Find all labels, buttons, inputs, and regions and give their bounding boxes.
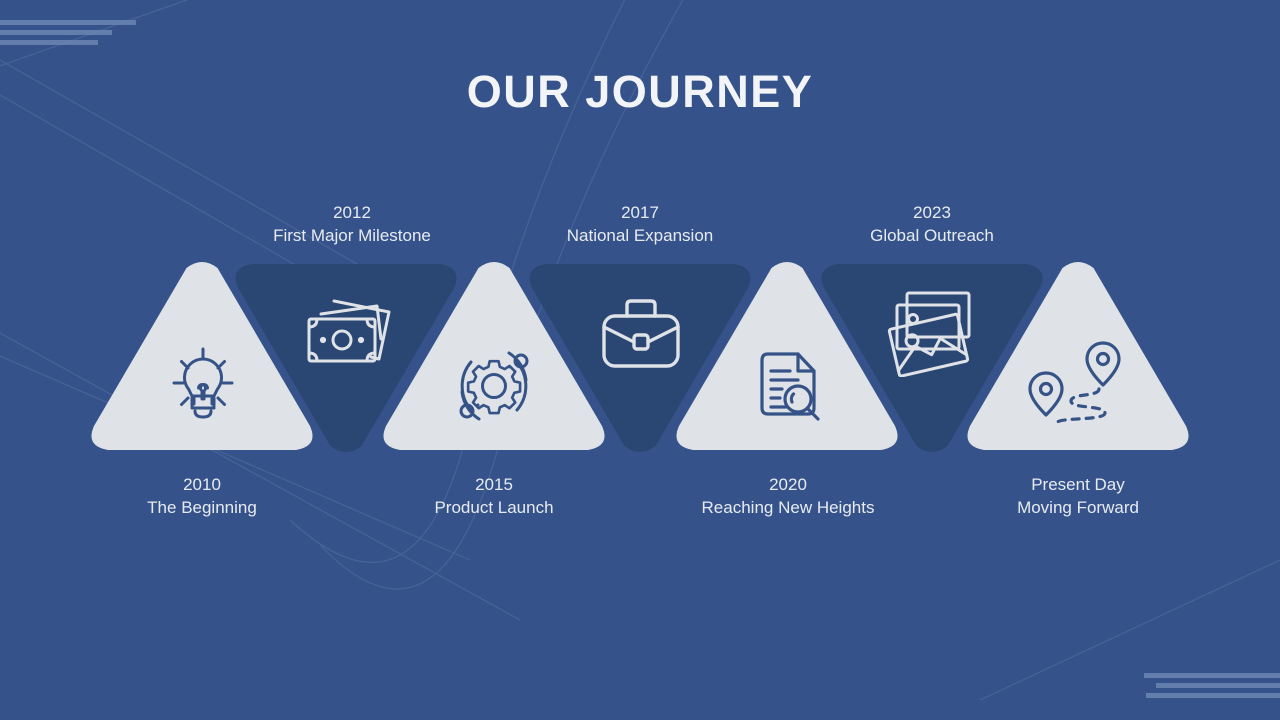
milestone-caption: Global Outreach (802, 225, 1062, 248)
route-pins-icon (1026, 336, 1130, 432)
milestone-year: 2012 (222, 202, 482, 225)
milestone-label-2017: 2017 National Expansion (510, 202, 770, 247)
milestone-label-2012: 2012 First Major Milestone (222, 202, 482, 247)
milestone-caption: The Beginning (72, 497, 332, 520)
milestone-year: 2017 (510, 202, 770, 225)
milestone-label-2010: 2010 The Beginning (72, 474, 332, 519)
milestone-label-2023: 2023 Global Outreach (802, 202, 1062, 247)
milestone-year: 2015 (364, 474, 624, 497)
milestone-year: Present Day (948, 474, 1208, 497)
milestone-caption: Product Launch (364, 497, 624, 520)
milestone-label-present-day: Present Day Moving Forward (948, 474, 1208, 519)
milestone-caption: National Expansion (510, 225, 770, 248)
milestone-year: 2010 (72, 474, 332, 497)
milestone-caption: First Major Milestone (222, 225, 482, 248)
milestone-caption: Moving Forward (948, 497, 1208, 520)
milestone-label-2020: 2020 Reaching New Heights (658, 474, 918, 519)
milestone-year: 2020 (658, 474, 918, 497)
timeline-container: 2010 The Beginning 2012 First Major Mile… (0, 0, 1280, 720)
gear-orbit-icon (450, 342, 538, 430)
milestone-caption: Reaching New Heights (658, 497, 918, 520)
milestone-label-2015: 2015 Product Launch (364, 474, 624, 519)
milestone-year: 2023 (802, 202, 1062, 225)
